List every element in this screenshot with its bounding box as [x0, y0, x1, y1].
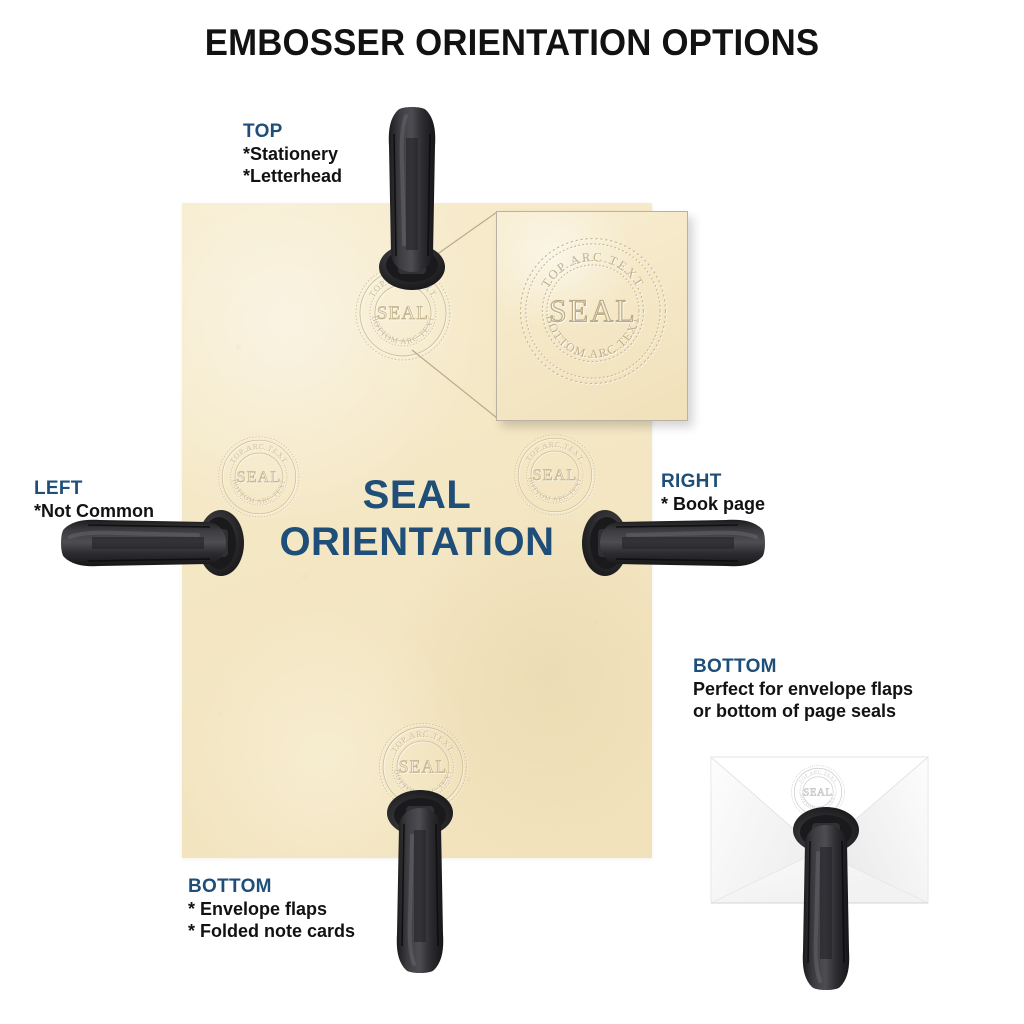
center-seal-orientation-text: SEAL ORIENTATION: [182, 472, 652, 566]
label-bottom-right-line-1: Perfect for envelope flaps: [693, 678, 913, 700]
label-right-line-1: * Book page: [661, 493, 765, 515]
embosser-top[interactable]: [376, 104, 448, 294]
svg-text:TOP ARC TEXT: TOP ARC TEXT: [539, 250, 647, 290]
label-bottom-right-head: BOTTOM: [693, 655, 913, 678]
label-bottom-right: BOTTOM Perfect for envelope flaps or bot…: [693, 655, 913, 722]
label-top-line-1: *Stationery: [243, 143, 342, 165]
seal-impression-magnified: TOP ARC TEXT BOTTOM ARC TEXT SEAL: [510, 228, 676, 394]
infographic-canvas: EMBOSSER ORIENTATION OPTIONS TOP ARC TEX…: [0, 0, 1024, 1024]
center-line-2: ORIENTATION: [182, 519, 652, 566]
svg-text:SEAL: SEAL: [549, 294, 637, 329]
label-top-line-2: *Letterhead: [243, 165, 342, 187]
label-left-head: LEFT: [34, 477, 154, 500]
label-bottom-left-head: BOTTOM: [188, 875, 355, 898]
center-line-1: SEAL: [182, 472, 652, 519]
label-left-line-1: *Not Common: [34, 500, 154, 522]
label-right-head: RIGHT: [661, 470, 765, 493]
label-top-head: TOP: [243, 120, 342, 143]
label-bottom-left-line-1: * Envelope flaps: [188, 898, 355, 920]
label-bottom-left-line-2: * Folded note cards: [188, 920, 355, 942]
svg-text:BOTTOM ARC TEXT: BOTTOM ARC TEXT: [543, 314, 642, 361]
label-bottom-right-line-2: or bottom of page seals: [693, 700, 913, 722]
page-title: EMBOSSER ORIENTATION OPTIONS: [31, 22, 994, 64]
label-top: TOP *Stationery *Letterhead: [243, 120, 342, 187]
label-right: RIGHT * Book page: [661, 470, 765, 515]
label-left: LEFT *Not Common: [34, 477, 154, 522]
embosser-bottom[interactable]: [384, 786, 456, 976]
label-bottom-left: BOTTOM * Envelope flaps * Folded note ca…: [188, 875, 355, 942]
magnified-seal-callout: TOP ARC TEXT BOTTOM ARC TEXT SEAL: [496, 211, 688, 421]
embosser-envelope[interactable]: [790, 803, 862, 993]
